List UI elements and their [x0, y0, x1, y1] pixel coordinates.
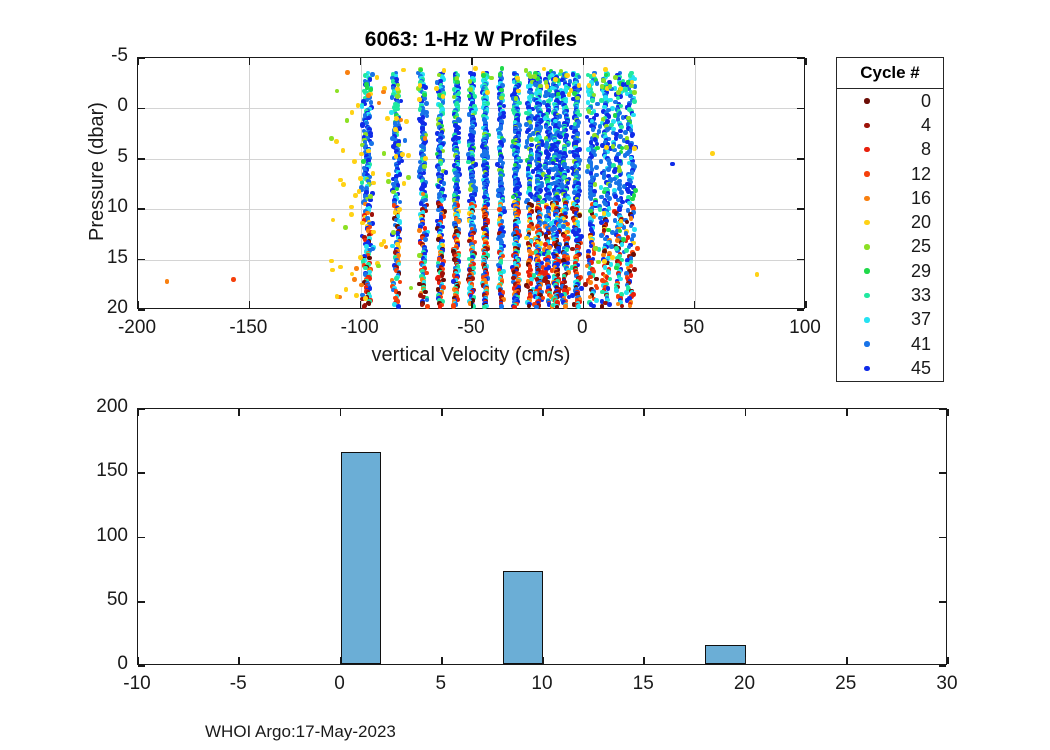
legend-item-label: 41: [911, 334, 931, 355]
legend-item-12[interactable]: 12: [837, 162, 943, 186]
scatter-point: [376, 264, 381, 269]
legend-item-41[interactable]: 41: [837, 332, 943, 356]
y-tick-label: 0: [0, 95, 128, 117]
scatter-point: [425, 298, 430, 303]
scatter-point: [362, 304, 367, 309]
scatter-point: [624, 87, 629, 92]
scatter-point: [586, 131, 591, 136]
tick-mark: [441, 657, 443, 664]
scatter-point: [628, 304, 633, 309]
legend-item-label: 8: [921, 139, 931, 160]
scatter-point: [341, 182, 346, 187]
scatter-point: [331, 218, 336, 223]
scatter-point: [425, 114, 430, 119]
scatter-point: [343, 225, 348, 230]
tick-mark: [441, 409, 443, 416]
tick-mark: [238, 657, 240, 664]
tick-mark: [138, 309, 145, 311]
scatter-point: [371, 171, 376, 176]
scatter-point: [631, 113, 636, 118]
scatter-point: [567, 92, 572, 97]
legend-item-label: 45: [911, 358, 931, 379]
scatter-point: [614, 288, 619, 293]
tick-mark: [138, 158, 145, 160]
y-tick-label: 15: [0, 247, 128, 269]
scatter-point: [402, 181, 407, 186]
legend-item-label: 33: [911, 285, 931, 306]
scatter-point: [344, 287, 349, 292]
scatter-point: [338, 265, 343, 270]
scatter-point: [399, 118, 404, 123]
scatter-point: [329, 136, 334, 141]
scatter-point: [592, 93, 597, 98]
scatter-point: [617, 168, 622, 173]
legend-item-label: 37: [911, 309, 931, 330]
tick-mark: [939, 537, 946, 539]
tick-mark: [138, 208, 145, 210]
scatter-point: [583, 282, 588, 287]
scatter-point: [614, 246, 619, 251]
legend-item-label: 29: [911, 261, 931, 282]
y-axis-title-pressure: Pressure (dbar): [86, 102, 109, 241]
scatter-point: [602, 211, 607, 216]
scatter-point: [359, 152, 364, 157]
histogram-bar: [705, 645, 746, 664]
scatter-point: [623, 130, 628, 135]
scatter-point: [396, 304, 401, 309]
histogram-bar: [341, 452, 382, 664]
scatter-point: [468, 87, 473, 92]
scatter-point: [369, 100, 374, 105]
scatter-point: [349, 205, 354, 210]
scatter-point: [353, 193, 358, 198]
scatter-point: [366, 149, 371, 154]
tick-mark: [797, 108, 804, 110]
scatter-point: [598, 124, 603, 129]
tick-mark: [745, 409, 747, 416]
scatter-point: [633, 188, 638, 193]
legend-item-37[interactable]: 37: [837, 308, 943, 332]
scatter-point: [529, 137, 534, 142]
scatter-point: [555, 305, 560, 310]
scatter-point: [532, 74, 537, 79]
scatter-point: [614, 266, 619, 271]
legend-item-label: 0: [921, 91, 931, 112]
legend-marker-icon: [864, 147, 870, 153]
scatter-point: [375, 75, 380, 80]
tick-mark: [939, 601, 946, 603]
scatter-point: [438, 304, 443, 309]
scatter-point: [489, 76, 494, 81]
scatter-point: [165, 279, 170, 284]
tick-mark: [797, 309, 804, 311]
scatter-point: [345, 70, 350, 75]
scatter-point: [395, 94, 400, 99]
scatter-point: [628, 73, 633, 78]
scatter-point: [367, 302, 372, 307]
scatter-point: [352, 159, 357, 164]
scatter-point: [393, 127, 398, 132]
scatter-point: [457, 118, 462, 123]
scatter-point: [612, 169, 617, 174]
scatter-point: [755, 272, 760, 277]
scatter-point: [517, 123, 522, 128]
tick-mark: [643, 409, 645, 416]
scatter-point: [423, 237, 428, 242]
scatter-point: [599, 98, 604, 103]
scatter-point: [434, 86, 439, 91]
tick-mark: [238, 409, 240, 416]
scatter-point: [406, 175, 411, 180]
scatter-point: [558, 135, 563, 140]
scatter-point: [418, 83, 423, 88]
legend-box: Cycle # 048121620252933374145: [836, 57, 944, 382]
scatter-point: [595, 146, 600, 151]
scatter-point: [588, 209, 593, 214]
scatter-point: [444, 170, 449, 175]
legend-marker-icon: [864, 98, 870, 104]
scatter-point: [606, 212, 611, 217]
scatter-point: [534, 305, 539, 310]
tick-mark: [340, 657, 342, 664]
tick-mark: [846, 657, 848, 664]
scatter-point: [482, 305, 487, 310]
scatter-point: [401, 68, 406, 73]
scatter-point: [345, 118, 350, 123]
scatter-point: [606, 167, 611, 172]
scatter-point: [624, 248, 629, 253]
scatter-point: [352, 277, 357, 282]
tick-mark: [471, 301, 473, 308]
scatter-point: [403, 138, 408, 143]
histogram-axes: [137, 408, 947, 665]
scatter-point: [593, 246, 598, 251]
scatter-point: [515, 76, 520, 81]
tick-mark: [694, 301, 696, 308]
x-tick-label: 100: [765, 317, 845, 339]
scatter-point: [423, 290, 428, 295]
scatter-point: [381, 90, 386, 95]
x-tick-label: -50: [431, 317, 511, 339]
scatter-point: [341, 148, 346, 153]
scatter-point: [468, 79, 473, 84]
scatter-point: [423, 156, 428, 161]
scatter-point: [611, 144, 616, 149]
scatter-point: [371, 181, 376, 186]
scatter-point: [632, 146, 637, 151]
legend-item-4[interactable]: 4: [837, 113, 943, 137]
y-tick-label: 100: [0, 525, 128, 547]
tick-mark: [745, 657, 747, 664]
scatter-point: [588, 280, 593, 285]
x-tick-label: 25: [806, 673, 886, 695]
legend-marker-icon: [864, 220, 870, 226]
scatter-point: [330, 268, 335, 273]
scatter-point: [591, 149, 596, 154]
gridline-vertical: [583, 58, 584, 308]
scatter-point: [398, 200, 403, 205]
scatter-point: [635, 246, 640, 251]
scatter-point: [500, 66, 505, 71]
scatter-point: [542, 67, 547, 72]
tick-mark: [583, 58, 585, 65]
x-tick-label: 30: [907, 673, 987, 695]
scatter-point: [409, 286, 414, 291]
scatter-point: [579, 286, 584, 291]
tick-mark: [542, 657, 544, 664]
scatter-point: [527, 304, 532, 309]
y-tick-label: -5: [0, 45, 128, 67]
legend-item-20[interactable]: 20: [837, 210, 943, 234]
x-tick-label: 50: [654, 317, 734, 339]
scatter-point: [563, 304, 568, 309]
scatter-point: [382, 239, 387, 244]
scatter-point: [329, 259, 334, 264]
scatter-point: [629, 216, 634, 221]
tick-mark: [249, 58, 251, 65]
legend-marker-icon: [864, 293, 870, 299]
scatter-point: [591, 127, 596, 132]
scatter-point: [363, 296, 368, 301]
scatter-point: [576, 304, 581, 309]
tick-mark: [138, 537, 145, 539]
legend-marker-icon: [864, 268, 870, 274]
scatter-point: [369, 141, 374, 146]
x-tick-label: -200: [97, 317, 177, 339]
figure-canvas: 6063: 1-Hz W Profiles Pressure (dbar) -5…: [0, 0, 1050, 750]
scatter-point: [600, 304, 605, 309]
scatter-point: [334, 139, 339, 144]
x-tick-label: 20: [705, 673, 785, 695]
scatter-point: [618, 223, 623, 228]
scatter-point: [354, 266, 359, 271]
legend-item-25[interactable]: 25: [837, 235, 943, 259]
tick-mark: [137, 657, 139, 664]
legend-item-label: 20: [911, 212, 931, 233]
scatter-point: [620, 304, 625, 309]
scatter-point: [349, 212, 354, 217]
scatter-point: [593, 137, 598, 142]
scatter-point: [384, 245, 389, 250]
scatter-point: [602, 259, 607, 264]
scatter-point: [600, 84, 605, 89]
tick-mark: [138, 665, 145, 667]
scatter-point: [395, 87, 400, 92]
scatter-point: [417, 228, 422, 233]
scatter-point: [632, 90, 637, 95]
scatter-point: [595, 81, 600, 86]
tick-mark: [947, 657, 949, 664]
scatter-point: [360, 104, 365, 109]
scatter-point: [609, 123, 614, 128]
tick-mark: [542, 409, 544, 416]
legend-item-33[interactable]: 33: [837, 283, 943, 307]
scatter-point: [575, 96, 580, 101]
tick-mark: [138, 259, 145, 261]
scatter-point: [594, 277, 599, 282]
legend-title: Cycle #: [837, 58, 943, 89]
scatter-point: [423, 136, 428, 141]
scatter-point: [587, 109, 592, 114]
legend-item-label: 16: [911, 188, 931, 209]
scatter-point: [398, 280, 403, 285]
scatter-point: [455, 80, 460, 85]
scatter-point: [400, 152, 405, 157]
scatter-point: [610, 255, 615, 260]
legend-item-29[interactable]: 29: [837, 259, 943, 283]
tick-mark: [694, 58, 696, 65]
legend-item-16[interactable]: 16: [837, 186, 943, 210]
scatter-point: [377, 101, 382, 106]
tick-mark: [797, 259, 804, 261]
legend-item-8[interactable]: 8: [837, 138, 943, 162]
tick-mark: [138, 408, 145, 410]
scatter-point: [391, 230, 396, 235]
tick-mark: [249, 301, 251, 308]
x-tick-label: 0: [300, 673, 380, 695]
tick-mark: [805, 301, 807, 308]
scatter-point: [623, 153, 628, 158]
legend-item-0[interactable]: 0: [837, 89, 943, 113]
scatter-point: [608, 84, 613, 89]
scatter-point: [385, 116, 390, 121]
scatter-point: [424, 101, 429, 106]
scatter-point: [516, 89, 521, 94]
tick-mark: [137, 301, 139, 308]
scatter-point: [369, 87, 374, 92]
tick-mark: [138, 601, 145, 603]
page-title: 6063: 1-Hz W Profiles: [137, 28, 805, 52]
scatter-point: [630, 134, 635, 139]
scatter-point: [382, 151, 387, 156]
y-tick-label: 10: [0, 196, 128, 218]
scatter-point: [451, 304, 456, 309]
scatter-point: [335, 294, 340, 299]
x-tick-label: -10: [97, 673, 177, 695]
scatter-point: [350, 110, 355, 115]
x-tick-label: 10: [502, 673, 582, 695]
scatter-point: [599, 159, 604, 164]
tick-mark: [137, 409, 139, 416]
scatter-point: [609, 244, 614, 249]
scatter-point: [629, 84, 634, 89]
scatter-point: [565, 73, 570, 78]
scatter-point: [621, 82, 626, 87]
tick-mark: [360, 58, 362, 65]
tick-mark: [797, 158, 804, 160]
scatter-point: [350, 272, 355, 277]
legend-marker-icon: [864, 341, 870, 347]
tick-mark: [797, 208, 804, 210]
tick-mark: [340, 409, 342, 416]
scatter-point: [632, 227, 637, 232]
scatter-point: [335, 89, 340, 94]
x-tick-label: -5: [198, 673, 278, 695]
tick-mark: [939, 472, 946, 474]
scatter-point: [618, 229, 623, 234]
scatter-point: [442, 68, 447, 73]
tick-mark: [939, 665, 946, 667]
legend-entries: 048121620252933374145: [837, 89, 943, 381]
scatter-point: [420, 303, 425, 308]
scatter-point: [593, 182, 598, 187]
y-tick-label: 150: [0, 460, 128, 482]
legend-item-45[interactable]: 45: [837, 356, 943, 380]
scatter-point: [417, 97, 422, 102]
scatter-point: [358, 255, 363, 260]
scatter-point: [386, 172, 391, 177]
x-tick-label: 15: [603, 673, 683, 695]
scatter-point: [586, 147, 591, 152]
scatter-point: [594, 298, 599, 303]
scatter-point: [613, 75, 618, 80]
scatter-point: [616, 90, 621, 95]
tick-mark: [797, 57, 804, 59]
scatter-point: [441, 94, 446, 99]
scatter-point: [594, 165, 599, 170]
x-tick-label: -100: [320, 317, 400, 339]
tick-mark: [846, 409, 848, 416]
scatter-point: [624, 145, 629, 150]
tick-mark: [138, 108, 145, 110]
scatter-point: [417, 253, 422, 258]
y-tick-label: 20: [0, 297, 128, 319]
gridline-vertical: [695, 58, 696, 308]
tick-mark: [805, 58, 807, 65]
scatter-point: [601, 78, 606, 83]
tick-mark: [471, 58, 473, 65]
tick-mark: [138, 57, 145, 59]
scatter-point: [613, 218, 618, 223]
x-tick-label: -150: [208, 317, 288, 339]
tick-mark: [137, 58, 139, 65]
scatter-point: [354, 293, 359, 298]
legend-marker-icon: [864, 366, 870, 372]
y-tick-label: 200: [0, 396, 128, 418]
scatter-point: [499, 304, 504, 309]
scatter-point: [371, 230, 376, 235]
legend-item-label: 25: [911, 236, 931, 257]
scatter-point: [610, 106, 615, 111]
legend-marker-icon: [864, 123, 870, 129]
y-tick-label: 0: [0, 653, 128, 675]
legend-item-label: 12: [911, 164, 931, 185]
scatter-point: [514, 96, 519, 101]
tick-mark: [939, 408, 946, 410]
scatter-point: [603, 67, 608, 72]
legend-marker-icon: [864, 317, 870, 323]
scatter-point: [370, 212, 375, 217]
scatter-point: [512, 305, 517, 310]
scatter-point: [553, 77, 558, 82]
tick-mark: [583, 301, 585, 308]
scatter-point: [608, 277, 613, 282]
scatter-point: [367, 256, 372, 261]
legend-item-label: 4: [921, 115, 931, 136]
scatter-point: [545, 84, 550, 89]
scatter-point: [632, 267, 637, 272]
histogram-bar: [503, 571, 544, 664]
scatter-point: [498, 72, 503, 77]
scatter-point: [406, 153, 411, 158]
scatter-point: [572, 91, 577, 96]
tick-mark: [947, 409, 949, 416]
scatter-point: [619, 190, 624, 195]
scatter-point: [386, 179, 391, 184]
scatter-point: [366, 93, 371, 98]
scatter-point: [395, 242, 400, 247]
x-tick-label: 5: [401, 673, 481, 695]
